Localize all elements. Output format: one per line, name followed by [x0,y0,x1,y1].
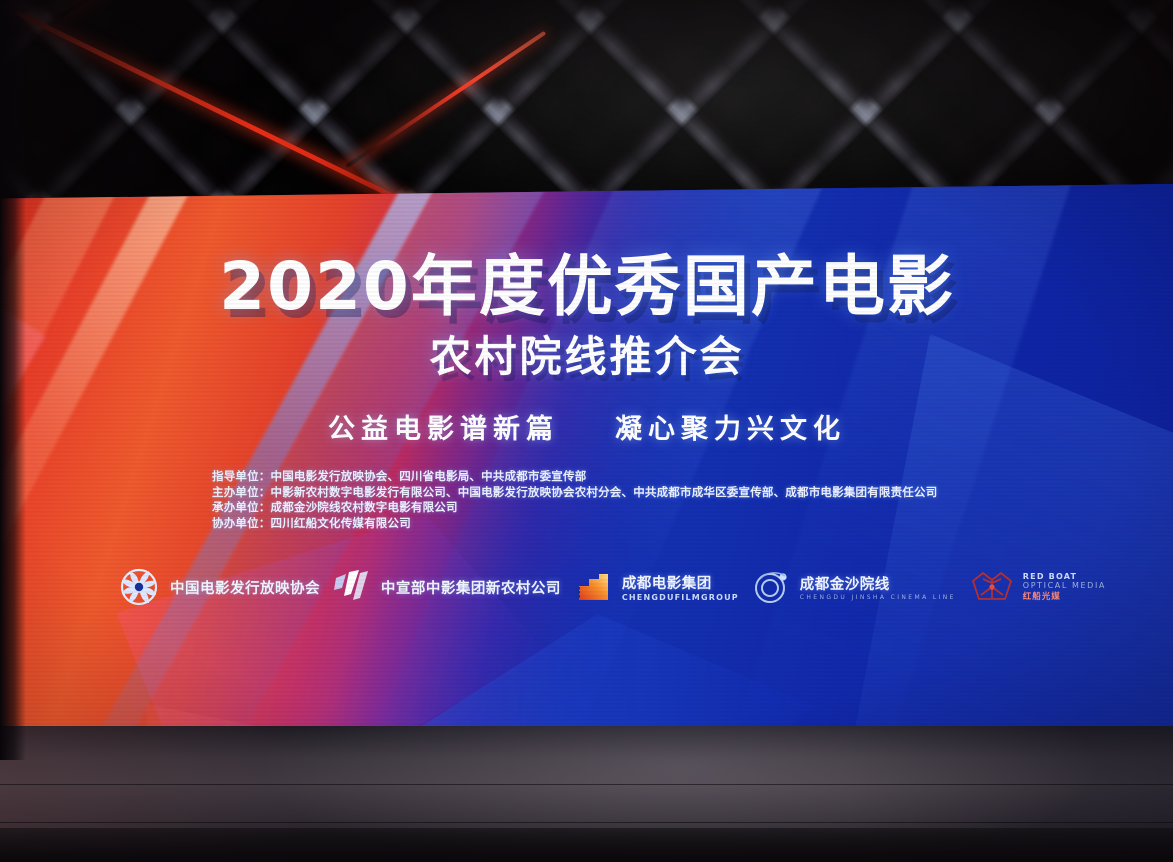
sponsor-logo-5-name-sub: OPTICAL MEDIA [1023,581,1106,590]
floor-shadow-band [0,828,1173,862]
slogan-left: 公益电影谱新篇 [328,416,559,443]
event-title-sub: 农村院线推介会 [0,336,1173,378]
credit-line-host: 主办单位：中影新农村数字电影发行有限公司、中国电影发行放映协会农村分会、中共成都… [212,485,1052,501]
sponsor-logo-4-text: 成都金沙院线 CHENGDU JINSHA CINEMA LINE [800,573,956,601]
stage-floor [0,726,1173,862]
sponsor-logo-4-name-sub: CHENGDU JINSHA CINEMA LINE [800,594,956,601]
left-wall-shadow [0,0,26,760]
event-slogan: 公益电影谱新篇凝心聚力兴文化 [0,416,1173,443]
film-strip-block-icon [574,570,614,604]
screen-content: 2020年度优秀国产电影 农村院线推介会 公益电影谱新篇凝心聚力兴文化 指导单位… [0,184,1173,744]
sponsor-logo-3-name-en: CHENGDUFILMGROUP [622,593,739,602]
sponsor-logo-4: 成都金沙院线 CHENGDU JINSHA CINEMA LINE [752,567,956,607]
sponsor-logo-4-name: 成都金沙院线 [800,573,956,594]
sponsor-logo-2-name: 中宣部中影集团新农村公司 [381,577,561,598]
floor-seam-1 [0,784,1173,785]
sponsor-logo-5-text: RED BOAT OPTICAL MEDIA 红船光媒 [1023,572,1106,602]
sponsor-logo-1-name: 中国电影发行放映协会 [170,577,320,598]
sponsor-logo-1: 中国电影发行放映协会 [116,564,320,610]
red-boat-crest-icon [969,567,1015,607]
credit-line-coorganizer: 协办单位：四川红船文化传媒有限公司 [212,516,1052,532]
sponsor-logo-1-text: 中国电影发行放映协会 [170,577,320,598]
orbit-ring-icon [752,567,792,607]
sponsor-logo-5-name-en: RED BOAT [1023,572,1106,581]
film-reel-rosette-icon [116,564,162,610]
sponsor-logo-3: 成都电影集团 CHENGDUFILMGROUP [574,570,739,604]
sponsor-logo-2-text: 中宣部中影集团新农村公司 [381,577,561,598]
credit-line-organizer: 承办单位：成都金沙院线农村数字电影有限公司 [212,500,1052,516]
sponsor-logo-2: 中宣部中影集团新农村公司 [333,570,561,604]
credit-line-guidance: 指导单位：中国电影发行放映协会、四川省电影局、中共成都市委宣传部 [212,469,1052,485]
sponsor-logo-row: 中国电影发行放映协会 中宣部中影集团新农村公司 [116,559,1106,615]
led-stage-screen: 2020年度优秀国产电影 农村院线推介会 公益电影谱新篇凝心聚力兴文化 指导单位… [0,184,1173,744]
credits-block: 指导单位：中国电影发行放映协会、四川省电影局、中共成都市委宣传部 主办单位：中影… [212,469,1052,531]
sponsor-logo-5-name: 红船光媒 [1023,590,1106,602]
conference-hall-photo: 2020年度优秀国产电影 农村院线推介会 公益电影谱新篇凝心聚力兴文化 指导单位… [0,0,1173,862]
double-chevron-icon [333,570,373,604]
event-title-main: 2020年度优秀国产电影 [0,254,1173,320]
floor-seam-2 [0,822,1173,823]
sponsor-logo-3-name: 成都电影集团 [622,572,739,593]
slogan-right: 凝心聚力兴文化 [615,416,846,443]
sponsor-logo-5: RED BOAT OPTICAL MEDIA 红船光媒 [969,567,1106,607]
sponsor-logo-3-text: 成都电影集团 CHENGDUFILMGROUP [622,572,739,602]
